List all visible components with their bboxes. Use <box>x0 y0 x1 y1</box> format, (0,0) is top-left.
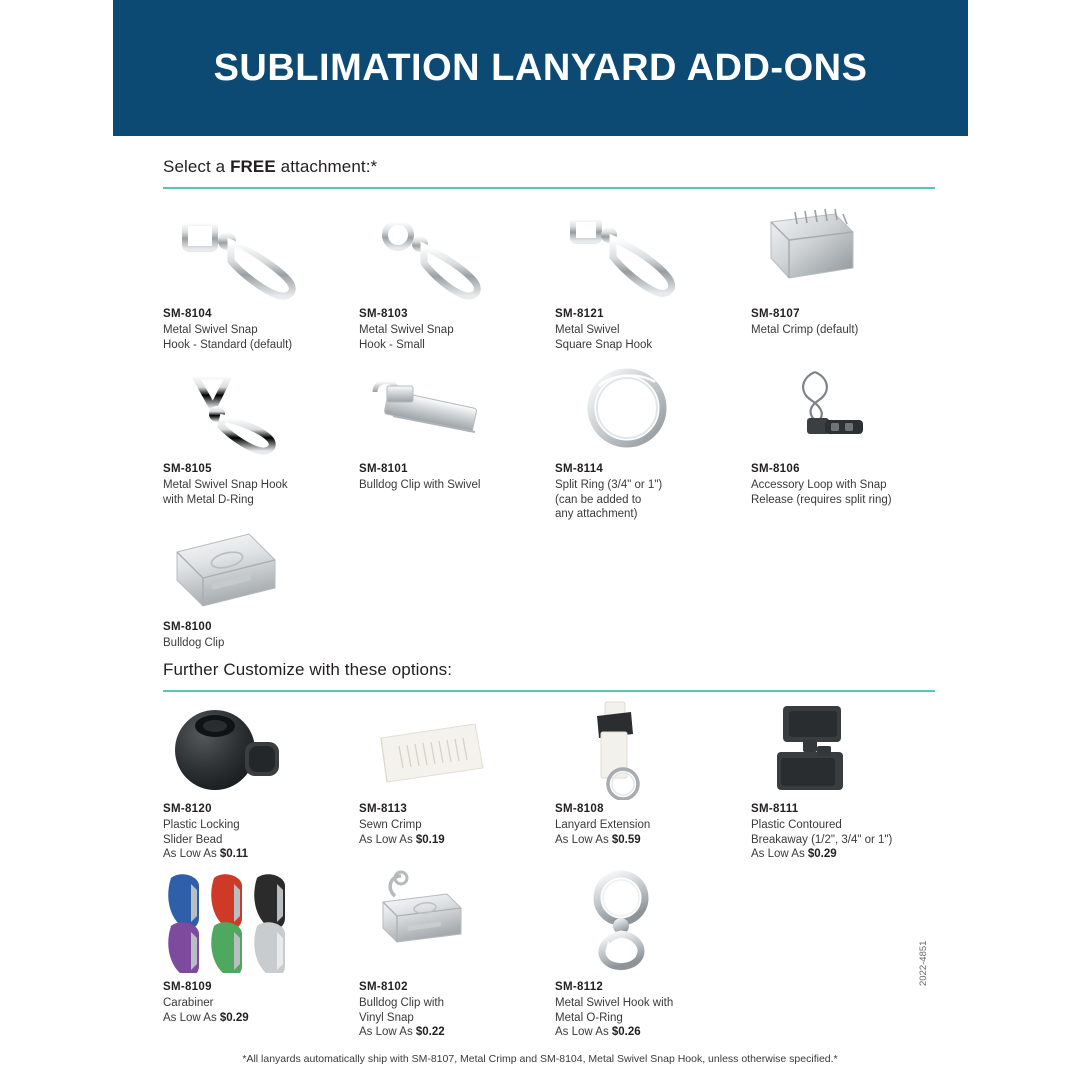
product-sku: SM-8108 <box>555 803 751 815</box>
product-card[interactable]: SM-8114 Split Ring (3/4" or 1") (can be … <box>555 360 751 522</box>
metal-crimp-icon <box>751 205 947 300</box>
product-sku: SM-8101 <box>359 463 555 475</box>
document-code: 2022-4851 <box>918 916 929 986</box>
swivel-square-snap-hook-icon <box>555 205 751 300</box>
bulldog-clip-swivel-icon <box>359 360 555 455</box>
product-description: Metal Swivel Snap Hook with Metal D-Ring <box>163 478 341 507</box>
product-sku: SM-8120 <box>163 803 359 815</box>
price-value: $0.22 <box>416 1026 445 1038</box>
product-description-text: Bulldog Clip with Vinyl Snap <box>359 997 444 1024</box>
product-description: Bulldog Clip with Swivel <box>359 478 537 493</box>
product-card[interactable]: SM-8111 Plastic Contoured Breakaway (1/2… <box>751 700 947 862</box>
section-divider-rule <box>163 690 935 692</box>
product-description: Plastic Contoured Breakaway (1/2", 3/4" … <box>751 818 929 862</box>
product-description-text: Plastic Locking Slider Bead <box>163 819 240 846</box>
section-title-prefix: Select a <box>163 157 230 176</box>
price-label: As Low As <box>359 834 416 846</box>
product-card[interactable]: SM-8100 Bulldog Clip <box>163 518 359 651</box>
plastic-locking-slider-bead-icon <box>163 700 359 795</box>
product-description-text: Sewn Crimp <box>359 819 422 831</box>
product-card[interactable]: SM-8113 Sewn CrimpAs Low As $0.19 <box>359 700 555 862</box>
product-grid-customize-row-2: SM-8109 CarabinerAs Low As $0.29 <box>163 868 953 1040</box>
section-title-strong: FREE <box>230 157 276 176</box>
product-description: Lanyard ExtensionAs Low As $0.59 <box>555 818 733 847</box>
product-description: CarabinerAs Low As $0.29 <box>163 996 341 1025</box>
section-heading-free-attachments: Select a FREE attachment:* <box>163 157 935 189</box>
product-card[interactable]: SM-8109 CarabinerAs Low As $0.29 <box>163 868 359 1040</box>
carabiner-icon <box>163 868 359 973</box>
section-heading-further-customize: Further Customize with these options: <box>163 660 935 692</box>
bulldog-clip-icon <box>163 518 359 613</box>
product-description: Metal Swivel Hook with Metal O-RingAs Lo… <box>555 996 733 1040</box>
accessory-loop-snap-release-icon <box>751 360 947 455</box>
price-label: As Low As <box>555 1026 612 1038</box>
section-title-suffix: attachment:* <box>276 157 377 176</box>
swivel-snap-hook-standard-icon <box>163 205 359 300</box>
product-sku: SM-8107 <box>751 308 947 320</box>
product-description: Metal Swivel Snap Hook - Small <box>359 323 537 352</box>
product-sku: SM-8105 <box>163 463 359 475</box>
price-label: As Low As <box>359 1026 416 1038</box>
product-description: Metal Crimp (default) <box>751 323 929 338</box>
product-card[interactable]: SM-8106 Accessory Loop with Snap Release… <box>751 360 947 522</box>
product-description-text: Metal Swivel Hook with Metal O-Ring <box>555 997 673 1024</box>
swivel-hook-oring-icon <box>555 868 751 973</box>
product-grid-free-row-3: SM-8100 Bulldog Clip <box>163 518 953 651</box>
section-title-free-attachments: Select a FREE attachment:* <box>163 157 935 187</box>
product-sku: SM-8112 <box>555 981 751 993</box>
product-sku: SM-8100 <box>163 621 359 633</box>
product-card[interactable]: SM-8108 Lanyard ExtensionAs Low As $0.59 <box>555 700 751 862</box>
product-description: Bulldog Clip with Vinyl SnapAs Low As $0… <box>359 996 537 1040</box>
product-card[interactable]: SM-8101 Bulldog Clip with Swivel <box>359 360 555 522</box>
product-grid-customize-row-1: SM-8120 Plastic Locking Slider BeadAs Lo… <box>163 700 953 862</box>
section-title-further-customize: Further Customize with these options: <box>163 660 935 690</box>
product-card[interactable]: SM-8102 Bulldog Clip with Vinyl SnapAs L… <box>359 868 555 1040</box>
product-grid-free-row-2: SM-8105 Metal Swivel Snap Hook with Meta… <box>163 360 953 522</box>
product-card[interactable]: SM-8112 Metal Swivel Hook with Metal O-R… <box>555 868 751 1040</box>
product-card[interactable]: SM-8121 Metal Swivel Square Snap Hook <box>555 205 751 352</box>
product-description: Bulldog Clip <box>163 636 341 651</box>
product-card[interactable]: SM-8104 Metal Swivel Snap Hook - Standar… <box>163 205 359 352</box>
price-value: $0.26 <box>612 1026 641 1038</box>
product-description: Accessory Loop with Snap Release (requir… <box>751 478 929 507</box>
product-card[interactable]: SM-8103 Metal Swivel Snap Hook - Small <box>359 205 555 352</box>
price-value: $0.59 <box>612 834 641 846</box>
split-ring-icon <box>555 360 751 455</box>
product-sku: SM-8106 <box>751 463 947 475</box>
product-card[interactable]: SM-8120 Plastic Locking Slider BeadAs Lo… <box>163 700 359 862</box>
footnote-text: *All lanyards automatically ship with SM… <box>0 1053 1080 1065</box>
product-sku: SM-8114 <box>555 463 751 475</box>
product-sku: SM-8111 <box>751 803 947 815</box>
page-title: SUBLIMATION LANYARD ADD-ONS <box>214 47 868 90</box>
product-description: Split Ring (3/4" or 1") (can be added to… <box>555 478 733 522</box>
product-description-text: Carabiner <box>163 997 214 1009</box>
bulldog-clip-vinyl-snap-icon <box>359 868 555 973</box>
product-description: Sewn CrimpAs Low As $0.19 <box>359 818 537 847</box>
product-sku: SM-8113 <box>359 803 555 815</box>
price-value: $0.29 <box>220 1012 249 1024</box>
product-sku: SM-8103 <box>359 308 555 320</box>
price-value: $0.29 <box>808 848 837 860</box>
product-description: Metal Swivel Square Snap Hook <box>555 323 733 352</box>
price-value: $0.19 <box>416 834 445 846</box>
price-label: As Low As <box>555 834 612 846</box>
price-label: As Low As <box>163 1012 220 1024</box>
product-description-text: Lanyard Extension <box>555 819 650 831</box>
product-grid-free-row-1: SM-8104 Metal Swivel Snap Hook - Standar… <box>163 205 953 352</box>
product-card[interactable]: SM-8107 Metal Crimp (default) <box>751 205 947 352</box>
plastic-contoured-breakaway-icon <box>751 700 947 795</box>
swivel-snap-hook-small-icon <box>359 205 555 300</box>
page-header-banner: SUBLIMATION LANYARD ADD-ONS <box>113 0 968 136</box>
price-label: As Low As <box>163 848 220 860</box>
swivel-snap-hook-dring-icon <box>163 360 359 455</box>
product-sku: SM-8102 <box>359 981 555 993</box>
product-description-text: Plastic Contoured Breakaway (1/2", 3/4" … <box>751 819 892 846</box>
section-divider-rule <box>163 187 935 189</box>
price-value: $0.11 <box>220 848 248 860</box>
lanyard-extension-icon <box>555 700 751 795</box>
product-sku: SM-8104 <box>163 308 359 320</box>
product-description: Plastic Locking Slider BeadAs Low As $0.… <box>163 818 341 862</box>
sewn-crimp-icon <box>359 700 555 795</box>
product-description: Metal Swivel Snap Hook - Standard (defau… <box>163 323 341 352</box>
product-sku: SM-8109 <box>163 981 359 993</box>
price-label: As Low As <box>751 848 808 860</box>
product-card[interactable]: SM-8105 Metal Swivel Snap Hook with Meta… <box>163 360 359 522</box>
product-sku: SM-8121 <box>555 308 751 320</box>
